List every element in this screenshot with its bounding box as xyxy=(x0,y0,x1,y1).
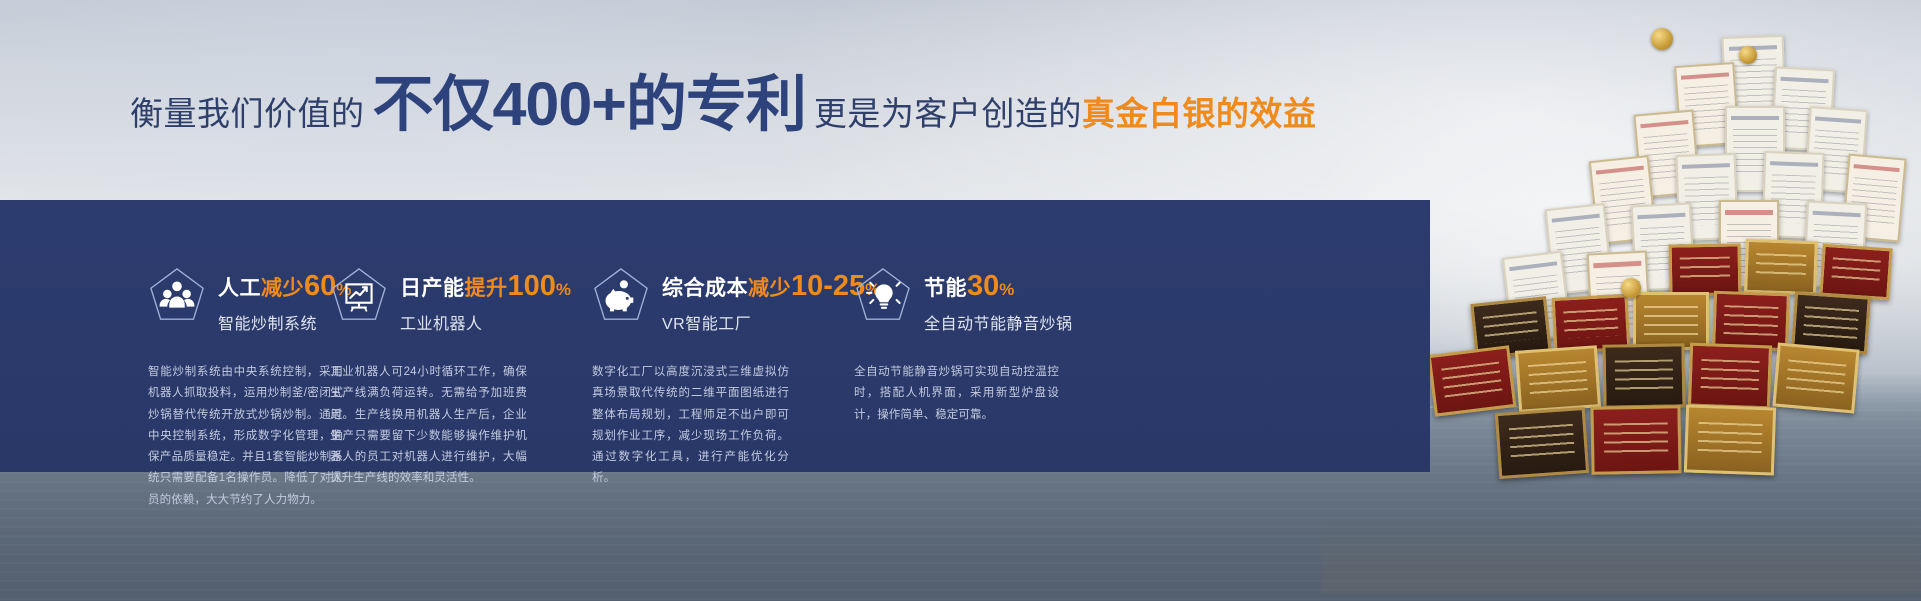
feature-title-white: 节能 xyxy=(924,278,967,299)
piggy-bank-pentagon-icon xyxy=(592,266,650,324)
feature-title-number: 30 xyxy=(967,272,999,301)
feature-description: 数字化工厂以高度沉浸式三维虚拟仿真场景取代传统的二维平面图纸进行整体布局规划，工… xyxy=(592,362,789,490)
feature-title-unit: % xyxy=(999,281,1014,298)
feature-item-capacity: 日产能 提升 100 % 工业机器人 工业机器人可24小时循环工作，确保生产线满… xyxy=(330,200,592,472)
feature-title-white: 日产能 xyxy=(400,278,465,299)
feature-title-unit: % xyxy=(556,281,571,298)
feature-item-cost: 综合成本 减少 10-25 % VR智能工厂 数字化工厂以高度沉浸式三维虚拟仿真… xyxy=(592,200,854,472)
feature-titles: 节能 30 % 全自动节能静音炒锅 xyxy=(924,272,1073,334)
feature-header: 人工 减少 60 % 智能炒制系统 xyxy=(148,272,330,334)
feature-header: 综合成本 减少 10-25 % VR智能工厂 xyxy=(592,272,854,334)
feature-description: 全自动节能静音炒锅可实现自动控温控时，搭配人机界面，采用新型炉盘设计，操作简单、… xyxy=(854,362,1059,426)
feature-title: 综合成本 减少 10-25 % xyxy=(662,272,880,301)
feature-titles: 综合成本 减少 10-25 % VR智能工厂 xyxy=(662,272,880,334)
feature-title-orange: 减少 xyxy=(748,278,791,299)
feature-title-number: 100 xyxy=(508,272,556,301)
feature-description: 智能炒制系统由中央系统控制，采用机器人抓取投料，运用炒制釜/密闭式炒锅替代传统开… xyxy=(148,362,343,511)
feature-header: 节能 30 % 全自动节能静音炒锅 xyxy=(854,272,1134,334)
headline: 衡量我们价值的 不仅400+的专利 更是为客户创造的 真金白银的效益 xyxy=(130,74,1330,136)
feature-subtitle: 全自动节能静音炒锅 xyxy=(924,310,1073,334)
headline-lead: 衡量我们价值的 xyxy=(130,97,365,130)
feature-item-energy: 节能 30 % 全自动节能静音炒锅 全自动节能静音炒锅可实现自动控温控时，搭配人… xyxy=(854,200,1134,472)
headline-emphasis: 不仅400+的专利 xyxy=(373,74,806,135)
feature-titles: 日产能 提升 100 % 工业机器人 xyxy=(400,272,571,334)
banner-stage: 衡量我们价值的 不仅400+的专利 更是为客户创造的 真金白银的效益 xyxy=(0,0,1921,601)
headline-highlight: 真金白银的效益 xyxy=(1082,97,1317,130)
feature-title-white: 人工 xyxy=(218,278,261,299)
feature-title-orange: 提升 xyxy=(465,278,508,299)
feature-item-labor: 人工 减少 60 % 智能炒制系统 智能炒制系统由中央系统控制，采用机器人抓取投… xyxy=(0,200,330,472)
feature-title-orange: 减少 xyxy=(261,278,304,299)
headline-middle: 更是为客户创造的 xyxy=(814,97,1082,130)
feature-description: 工业机器人可24小时循环工作，确保生产线满负荷运转。无需给予加班费用。生产线换用… xyxy=(330,362,527,490)
feature-title-white: 综合成本 xyxy=(662,278,748,299)
features-panel: 人工 减少 60 % 智能炒制系统 智能炒制系统由中央系统控制，采用机器人抓取投… xyxy=(0,200,1430,472)
chart-pentagon-icon xyxy=(330,266,388,324)
feature-title: 节能 30 % xyxy=(924,272,1073,301)
feature-header: 日产能 提升 100 % 工业机器人 xyxy=(330,272,592,334)
feature-title: 日产能 提升 100 % xyxy=(400,272,571,301)
lightbulb-pentagon-icon xyxy=(854,266,912,324)
feature-subtitle: VR智能工厂 xyxy=(662,310,880,334)
feature-subtitle: 工业机器人 xyxy=(400,310,571,334)
features-list: 人工 减少 60 % 智能炒制系统 智能炒制系统由中央系统控制，采用机器人抓取投… xyxy=(0,200,1430,472)
people-pentagon-icon xyxy=(148,266,206,324)
